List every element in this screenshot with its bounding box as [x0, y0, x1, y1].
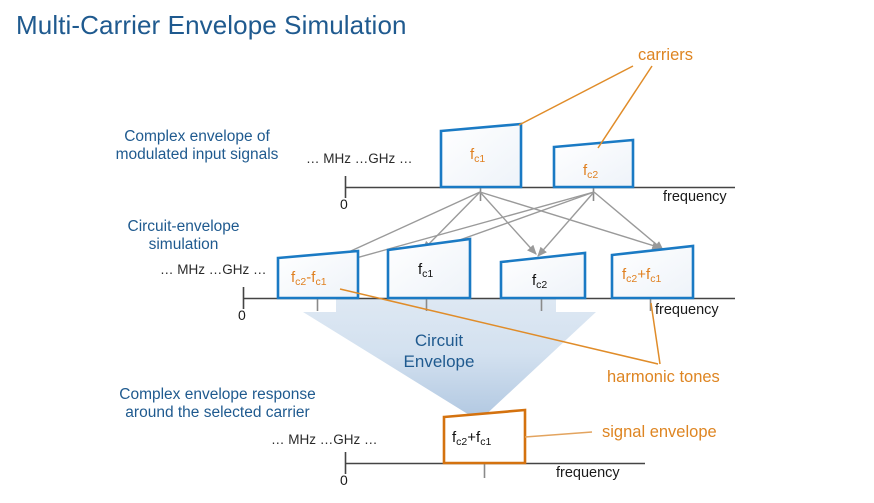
row2-box-label-fc2-plus-fc1: fc2+fc1: [622, 267, 661, 282]
row3-caption-line2: around the selected carrier: [100, 404, 335, 422]
big-arrow-label: Circuit Envelope: [374, 330, 504, 373]
row2-caption-line2: simulation: [101, 236, 266, 254]
row1-caption-line2: modulated input signals: [97, 146, 297, 164]
carriers-annotation: carriers: [638, 46, 693, 65]
row2-box-label-fc1: fc1: [418, 262, 433, 277]
row3-box-label-fc2-plus-fc1: fc2+fc1: [452, 430, 491, 445]
row2-caption-line1: Circuit-envelope: [101, 218, 266, 236]
row1-axis-units: … MHz …GHz …: [306, 151, 413, 167]
row2-box-label-fc2-minus-fc1: fc2-fc1: [291, 270, 327, 285]
row1-caption: Complex envelope of modulated input sign…: [97, 128, 297, 165]
row3-axis-units: … MHz …GHz …: [271, 432, 378, 448]
row2-box-label-fc2: fc2: [532, 273, 547, 288]
slide-canvas: Multi-Carrier Envelope Simulation Comple…: [0, 0, 874, 503]
row2-axis-zero: 0: [238, 307, 246, 324]
row2-axis-name: frequency: [655, 302, 719, 319]
big-arrow-label-line2: Envelope: [374, 351, 504, 372]
carriers-leader-lines: [519, 66, 652, 148]
signal-envelope-annotation: signal envelope: [602, 423, 717, 442]
row3-caption-line1: Complex envelope response: [100, 386, 335, 404]
harmonic-tones-annotation: harmonic tones: [607, 368, 720, 387]
row3-caption: Complex envelope response around the sel…: [100, 386, 335, 423]
row2-caption: Circuit-envelope simulation: [101, 218, 266, 255]
row1-box-label-fc2: fc2: [583, 163, 598, 178]
page-title: Multi-Carrier Envelope Simulation: [16, 10, 407, 41]
row1-axis-zero: 0: [340, 196, 348, 213]
row2-axis-units: … MHz …GHz …: [160, 262, 267, 278]
row1-caption-line1: Complex envelope of: [97, 128, 297, 146]
row3-axis-name: frequency: [556, 465, 620, 482]
signal-envelope-leader-line: [525, 432, 592, 437]
row1-box-label-fc1: fc1: [470, 147, 485, 162]
row3-axis-zero: 0: [340, 472, 348, 489]
big-arrow-label-line1: Circuit: [374, 330, 504, 351]
row1-axis-name: frequency: [663, 189, 727, 206]
